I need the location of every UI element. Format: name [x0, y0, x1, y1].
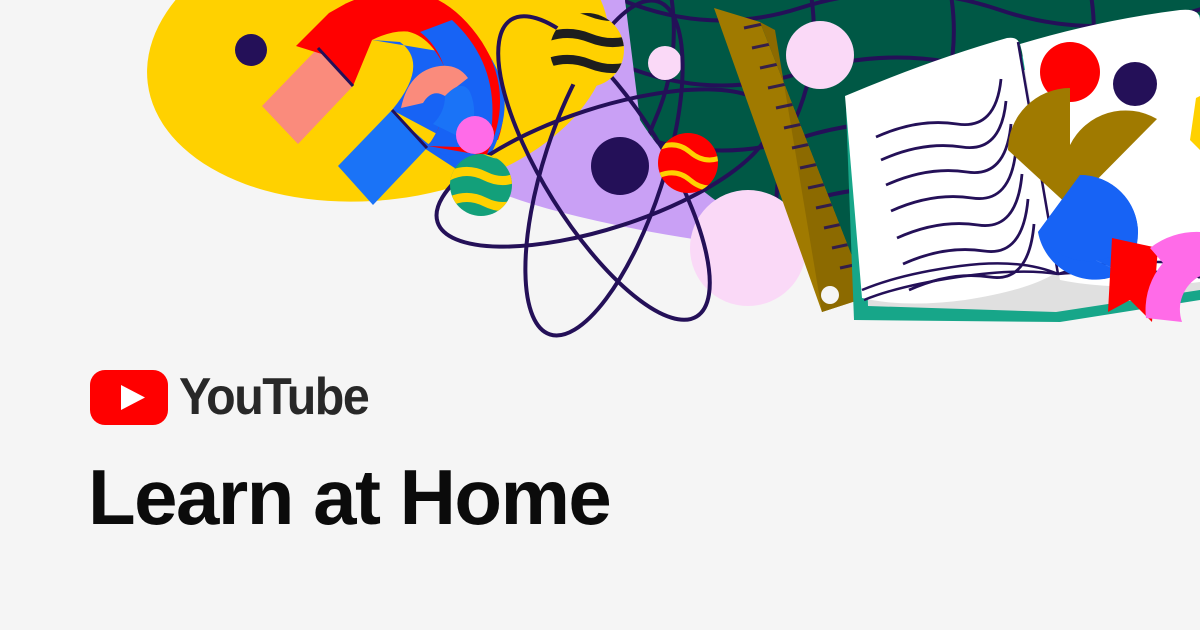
learn-at-home-banner: YouTube Learn at Home [0, 0, 1200, 630]
pink-dot [456, 116, 494, 154]
youtube-wordmark: YouTube [179, 371, 368, 423]
pale-pink-circle-small [648, 46, 682, 80]
book-shape-navy-dot [1113, 62, 1157, 106]
youtube-play-icon[interactable] [90, 370, 168, 425]
youtube-brand-logo[interactable]: YouTube [90, 370, 383, 424]
page-title: Learn at Home [88, 456, 610, 539]
pale-pink-circle-on-teal [786, 21, 854, 89]
navy-dot-on-yellow [235, 34, 267, 66]
ruler-hole [821, 286, 839, 304]
atom-nucleus [591, 137, 649, 195]
